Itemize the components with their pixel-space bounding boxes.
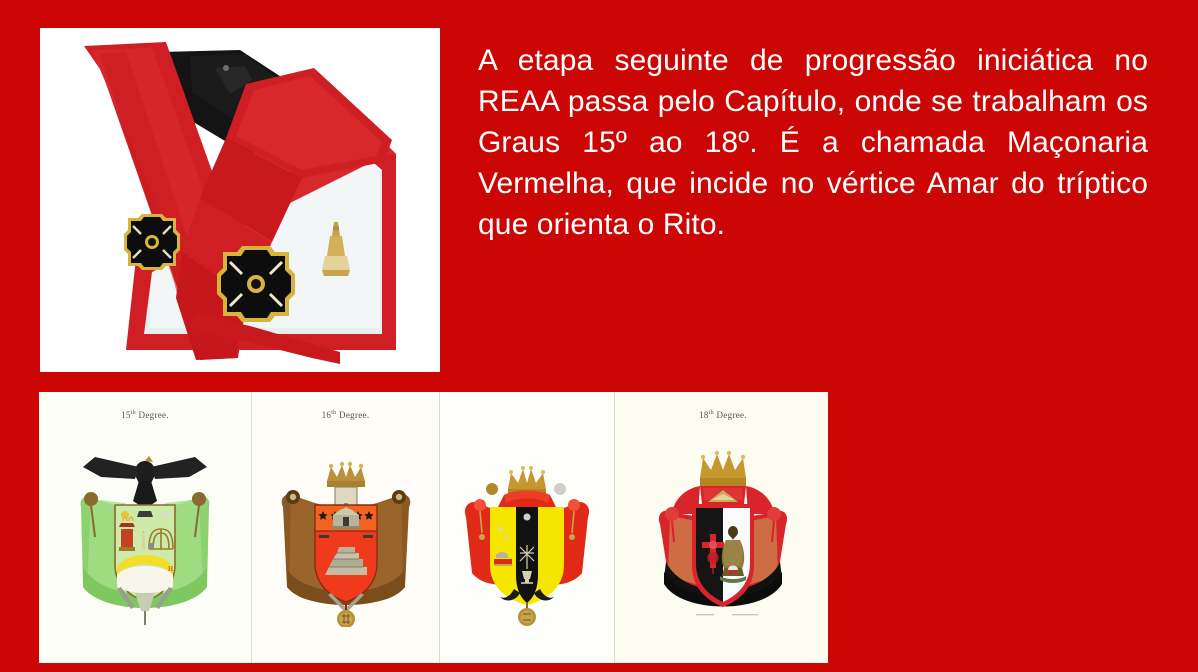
slide-canvas: A etapa seguinte de progressão iniciátic… <box>0 0 1198 672</box>
degree-number-15: 15 <box>121 410 131 420</box>
coat-of-arms-15: H <box>65 447 225 627</box>
degree-panel-15: 15th Degree. <box>39 392 251 663</box>
degree-crest-17 <box>440 424 614 650</box>
degree-number-18: 18 <box>699 410 709 420</box>
degree-title-15: 15th Degree. <box>39 410 251 420</box>
coat-of-arms-17 <box>452 447 602 627</box>
degree-suffix-18: th <box>709 410 714 416</box>
degree-word-18: Degree. <box>717 410 747 420</box>
degree-number-16: 16 <box>322 410 332 420</box>
coat-of-arms-18 <box>640 442 806 632</box>
svg-text:H: H <box>168 565 173 573</box>
degree-title-16: 16th Degree. <box>252 410 439 420</box>
degree-word-16: Degree. <box>339 410 369 420</box>
slide-body-text: A etapa seguinte de progressão iniciátic… <box>478 40 1148 245</box>
degree-crest-15: H <box>39 424 251 650</box>
degree-plates-strip: 15th Degree. <box>39 392 828 663</box>
degree-suffix-16: th <box>331 410 336 416</box>
degree-crest-16 <box>252 424 439 650</box>
degree-panel-18: 18th Degree. <box>615 392 828 663</box>
degree-title-18: 18th Degree. <box>615 410 828 420</box>
degree-crest-18 <box>615 424 828 650</box>
degree-panel-16: 16th Degree. <box>252 392 439 663</box>
coat-of-arms-16 <box>271 447 421 627</box>
body-paragraph: A etapa seguinte de progressão iniciátic… <box>478 40 1148 245</box>
degree-panel-17 <box>440 392 614 663</box>
masonic-apron-image <box>40 28 440 372</box>
degree-word-15: Degree. <box>139 410 169 420</box>
degree-suffix-15: th <box>131 410 136 416</box>
apron-illustration <box>40 28 440 372</box>
